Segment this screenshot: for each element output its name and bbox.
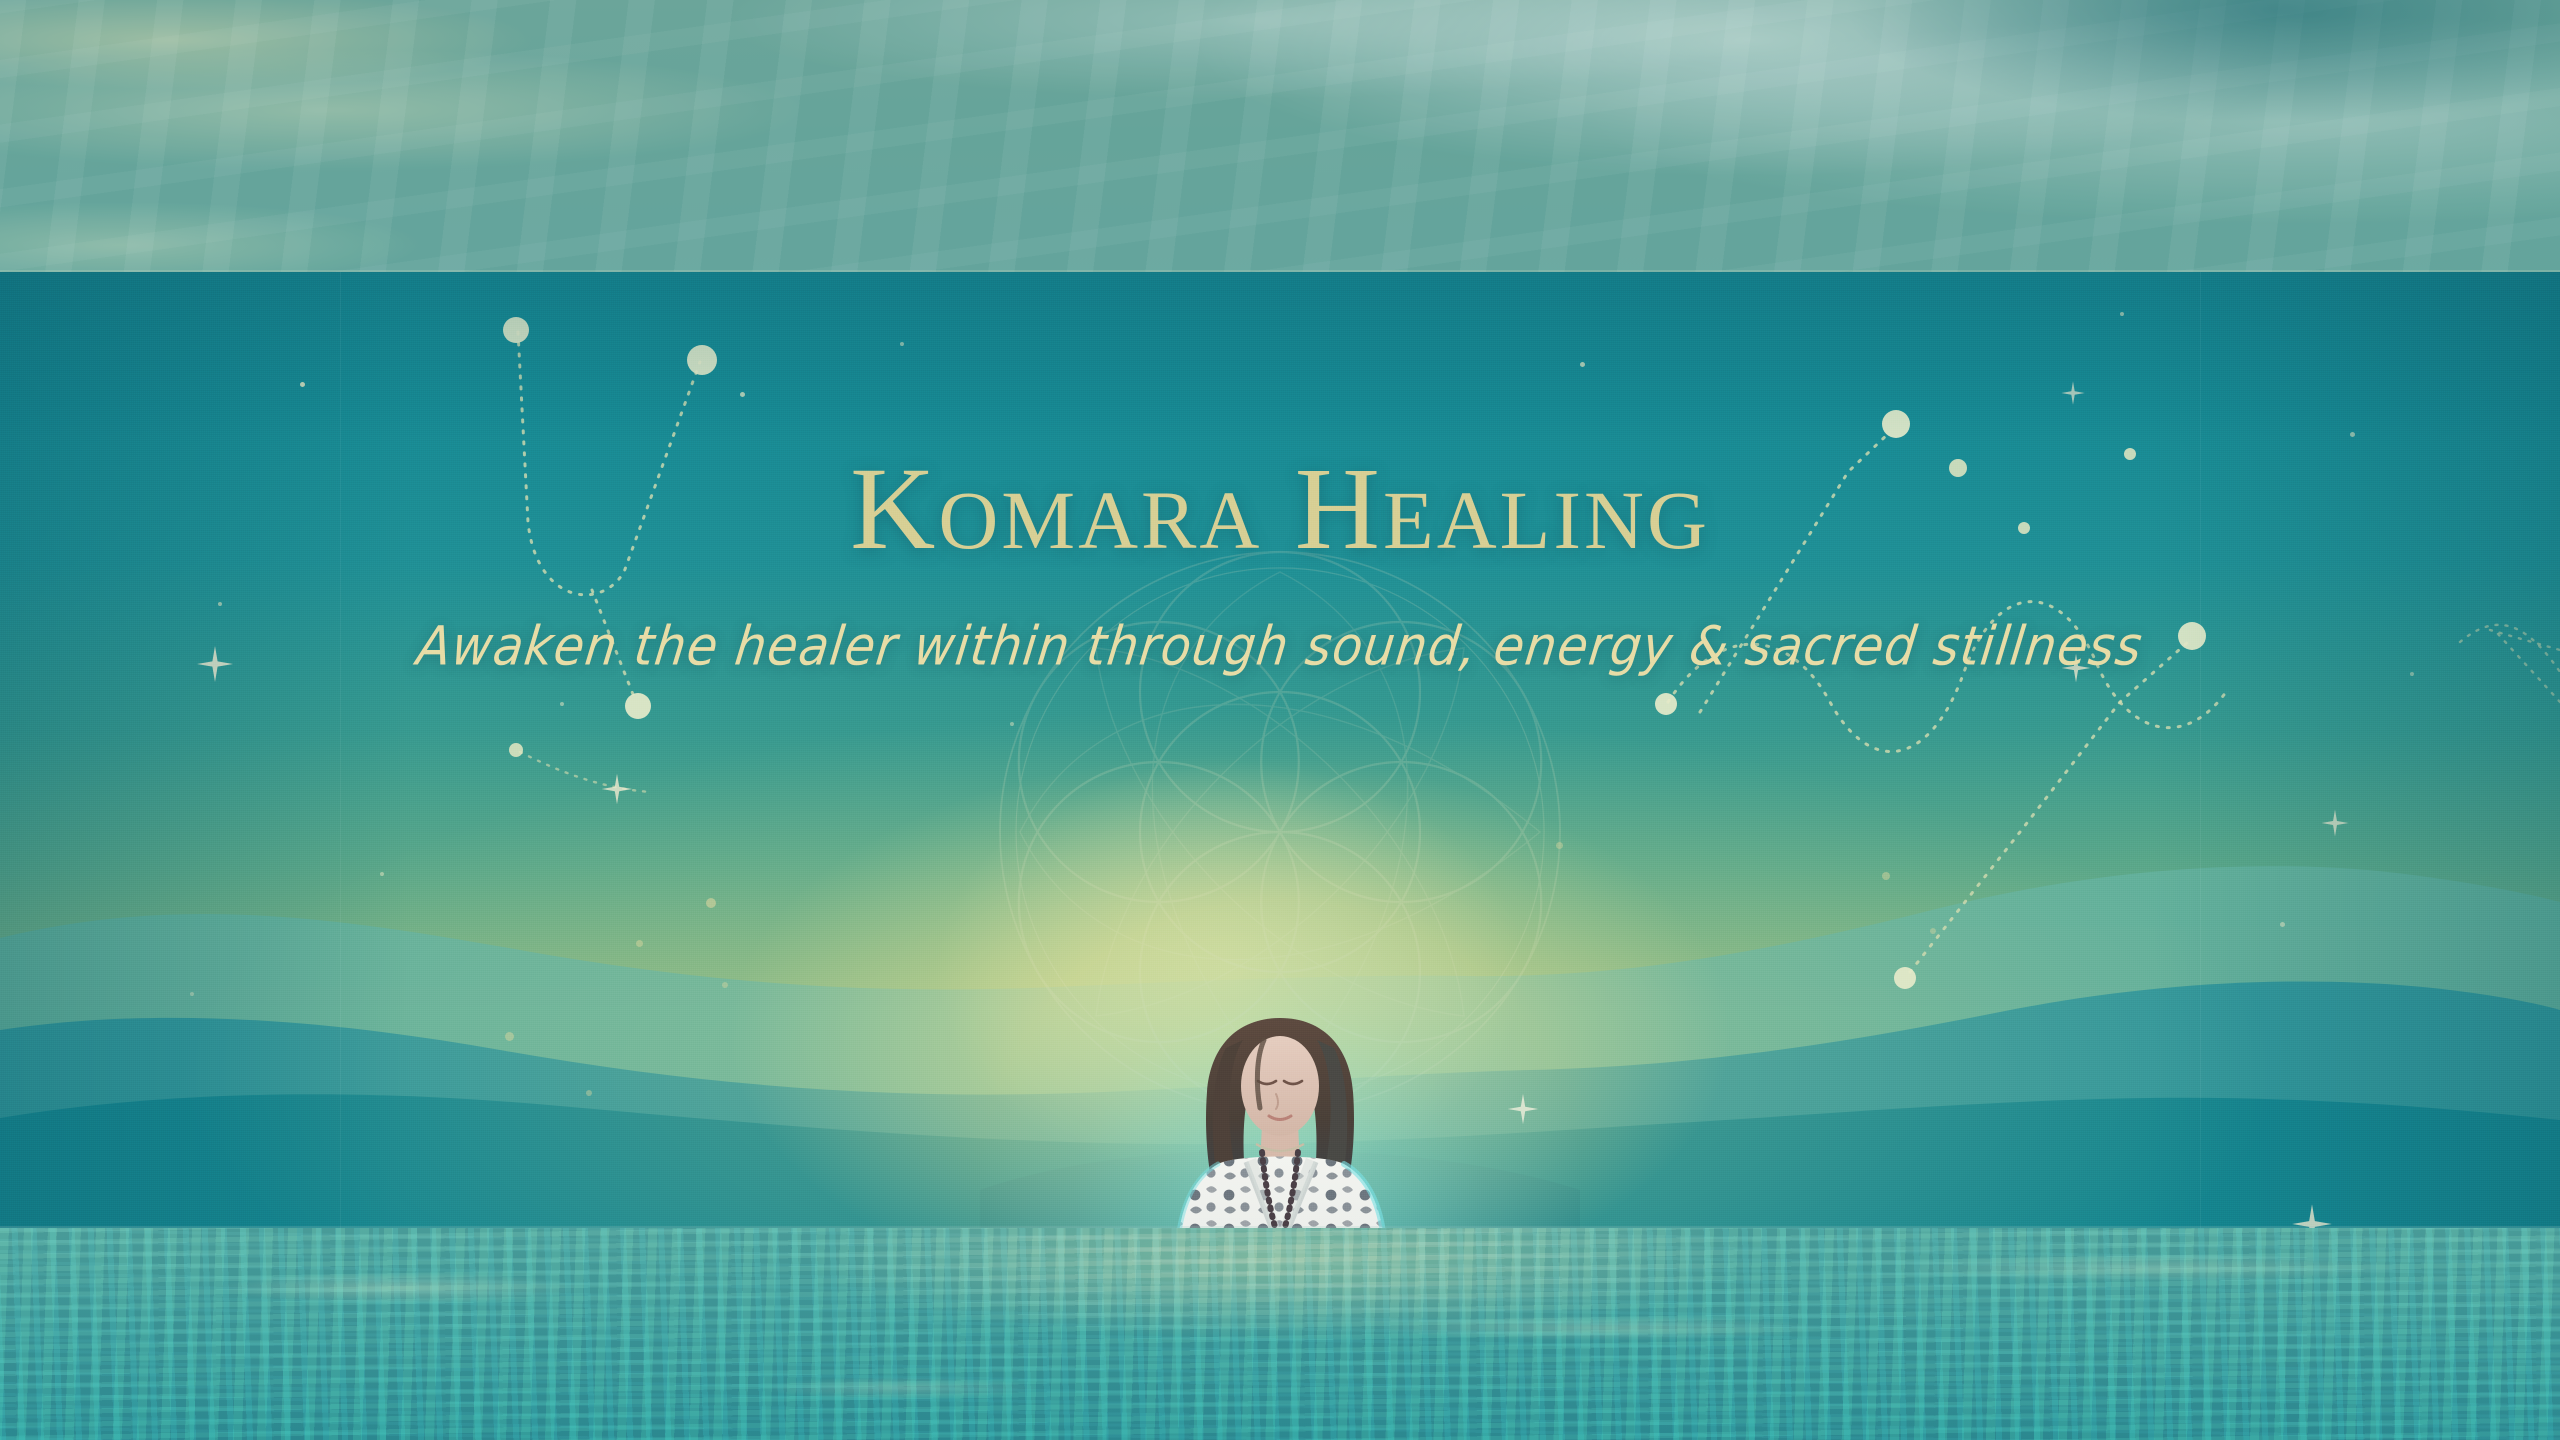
hero-banner: .cl{fill:none;stroke:#d3dcb0;stroke-widt… <box>0 272 2560 1228</box>
banner-top-seam <box>0 270 2560 272</box>
outer-sky-shadow <box>1460 0 2560 190</box>
water-highlight-streaks <box>0 1228 2560 1440</box>
collage-seam-right <box>2200 272 2201 1228</box>
banner-canvas: .cl{fill:none;stroke:#d3dcb0;stroke-widt… <box>0 0 2560 1440</box>
collage-seam-left <box>340 272 341 1228</box>
banner-bottom-seam <box>0 1226 2560 1228</box>
banner-grain-texture <box>0 272 2560 1228</box>
